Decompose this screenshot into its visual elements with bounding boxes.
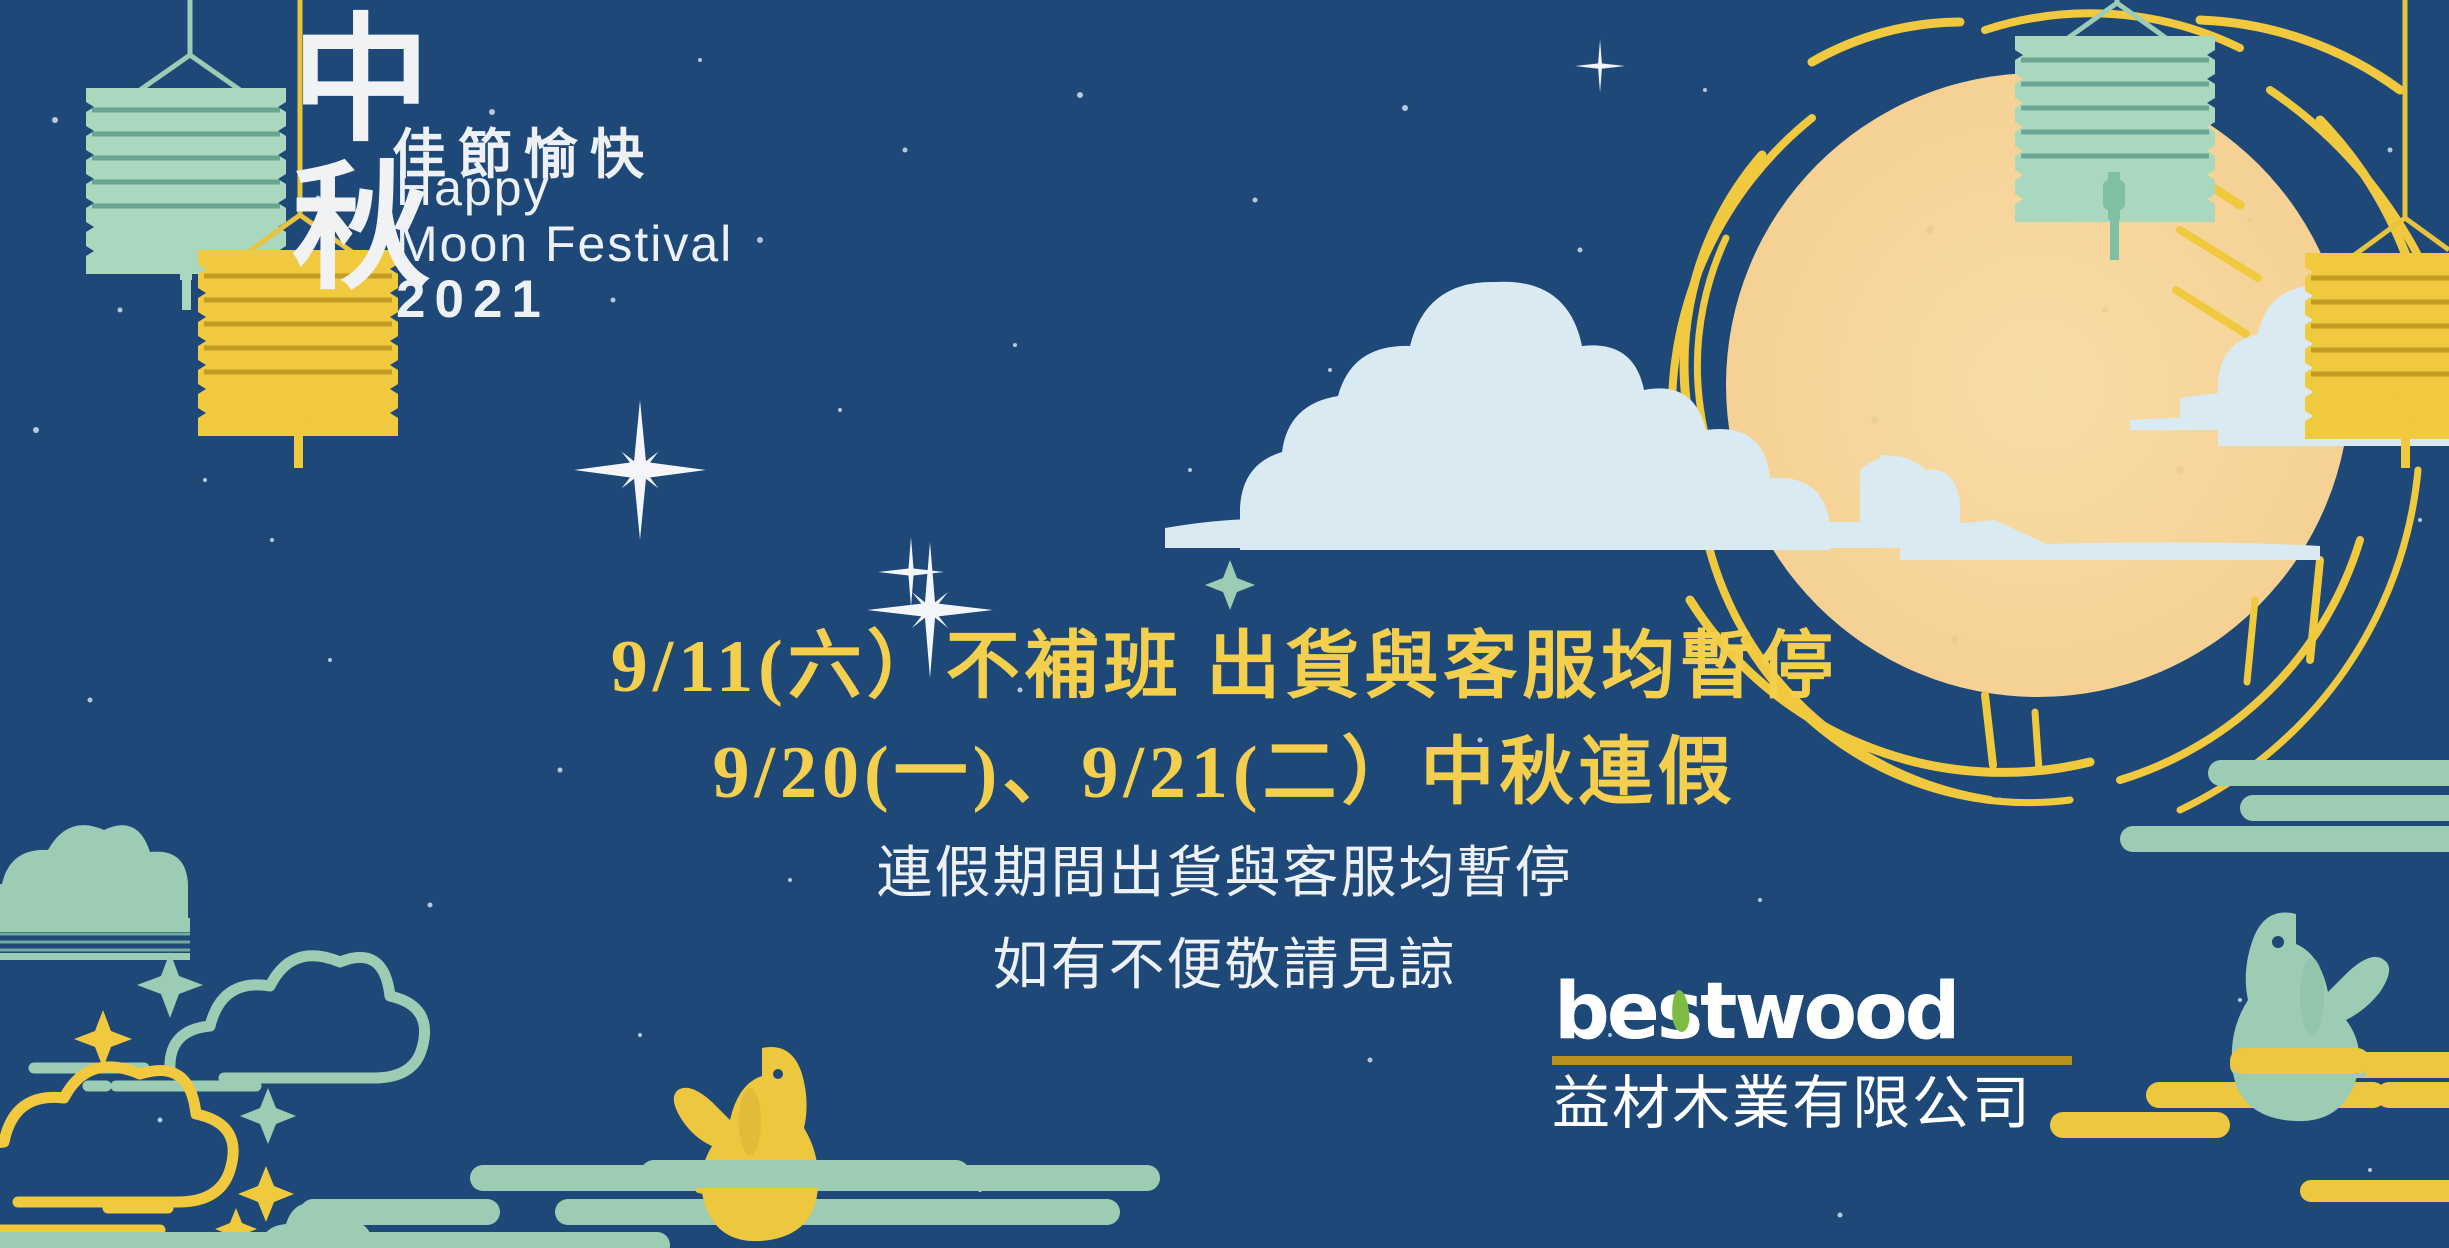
logo-company-name-cn: 益材木業有限公司 (1552, 1071, 2072, 1137)
notice-white-line-2: 如有不便敬請見諒 (0, 920, 2449, 1001)
english-line-3-year: 2021 (396, 272, 733, 328)
logo-wordmark-text: bestwood (1554, 967, 1958, 1057)
logo-divider (1552, 1056, 2072, 1065)
english-line-1: Happy (396, 160, 733, 216)
english-line-2: Moon Festival (396, 216, 733, 272)
mint-lantern-right (2015, 0, 2215, 260)
headline-english: Happy Moon Festival 2021 (396, 160, 733, 328)
logo-wordmark: bestwood (1552, 972, 2072, 1052)
moon-festival-banner: 中秋 佳節愉快 Happy Moon Festival 2021 9/11(六）… (0, 0, 2449, 1248)
cloud-bars-gold-lower-right (2300, 1180, 2449, 1202)
company-logo: bestwood 益材木業有限公司 (1552, 972, 2072, 1137)
notice-white-line-1: 連假期間出貨與客服均暫停 (0, 828, 2449, 909)
notice-yellow-line-1: 9/11(六）不補班 出貨與客服均暫停 (0, 606, 2449, 713)
cloud-bar-under-mint-rabbit (2230, 1048, 2370, 1074)
notice-yellow-line-2: 9/20(一)、9/21(二）中秋連假 (0, 712, 2449, 819)
cloud-bar-under-yellow-rabbit (640, 1160, 970, 1188)
